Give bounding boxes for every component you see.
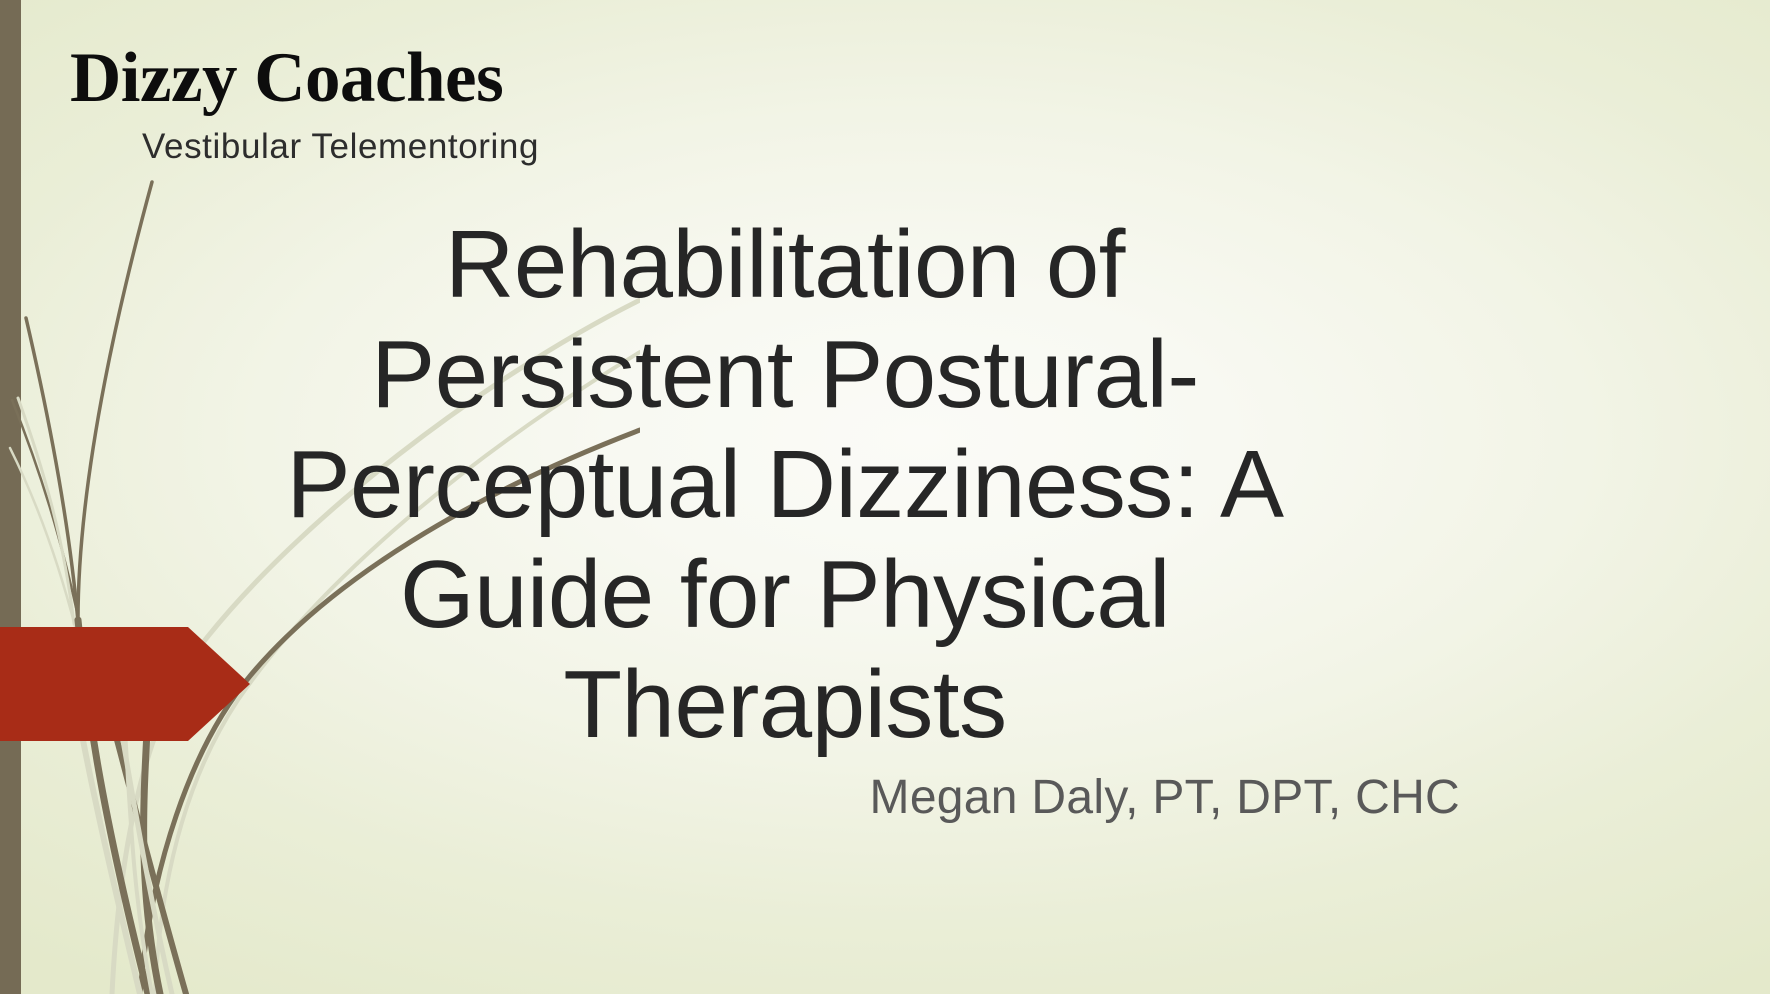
page-title: Rehabilitation of Persistent Postural-Pe… [265,210,1305,760]
author-container: Megan Daly, PT, DPT, CHC [420,770,1460,825]
title-container: Rehabilitation of Persistent Postural-Pe… [265,210,1305,760]
left-accent-bar [0,0,21,994]
brand-logo: Dizzy Coaches Vestibular Telementoring [70,42,770,167]
author-byline: Megan Daly, PT, DPT, CHC [420,770,1460,825]
red-arrow-banner-icon [0,627,250,741]
logo-subtitle: Vestibular Telementoring [142,127,770,167]
title-slide: Dizzy Coaches Vestibular Telementoring R… [0,0,1770,994]
logo-title: Dizzy Coaches [70,42,770,114]
